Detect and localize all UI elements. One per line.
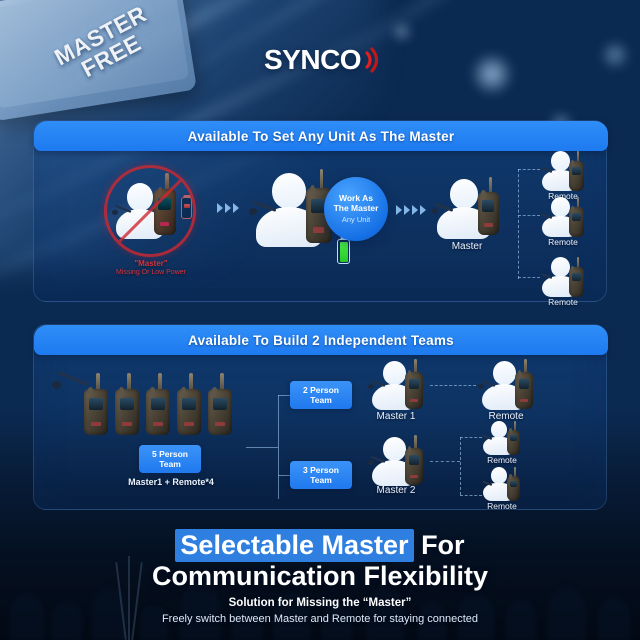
team-a-link-line	[430, 385, 476, 386]
callout-line-2: The Master	[334, 204, 379, 214]
walkie-talkie-unit	[146, 373, 170, 435]
section-2-banner-text: Available To Build 2 Independent Teams	[188, 333, 454, 348]
footer-headline-highlight: Selectable Master	[175, 529, 413, 562]
section-1-banner: Available To Set Any Unit As The Master	[34, 121, 608, 151]
walkie-talkie-unit	[177, 373, 201, 435]
three-person-team-chip[interactable]: 3 Person Team	[290, 461, 352, 489]
five-person-team-composition: Master1 + Remote*4	[110, 477, 232, 487]
team-b-trunk-line	[460, 437, 461, 495]
walkie-talkie-remote	[569, 197, 584, 237]
warning-label-sub: Missing Or Low Power	[76, 269, 226, 276]
walkie-talkie-unit	[208, 373, 232, 435]
footer-headline-line-1: Selectable Master For	[0, 530, 640, 560]
section-2-banner: Available To Build 2 Independent Teams	[34, 325, 608, 355]
split-line-trunk	[278, 395, 279, 499]
three-person-team-line2: Team	[310, 475, 332, 485]
split-line-in	[246, 447, 278, 448]
team-b-link-in	[430, 461, 460, 462]
infographic-stage: MASTER FREE SYNCO Available To Set Any U…	[0, 0, 640, 640]
team-b-remote-label: Remote	[480, 455, 524, 465]
brand-logo: SYNCO	[264, 44, 380, 76]
footer-headline-line-2: Communication Flexibility	[0, 561, 640, 591]
prohibition-icon	[104, 165, 196, 257]
sound-wave-icon	[364, 47, 380, 73]
battery-full-icon	[337, 239, 350, 264]
two-person-team-line1: 2 Person	[303, 385, 339, 395]
five-person-team-line1: 5 Person	[152, 449, 188, 459]
section-1-banner-text: Available To Set Any Unit As The Master	[188, 129, 455, 144]
two-person-team-chip[interactable]: 2 Person Team	[290, 381, 352, 409]
callout-line-3: Any Unit	[342, 215, 370, 224]
mic-capsule-icon	[432, 208, 438, 214]
walkie-talkie-master-1	[405, 359, 423, 409]
tree-branch-line	[518, 277, 540, 278]
walkie-talkie-master-2	[405, 435, 423, 485]
section-panel-teams: Available To Build 2 Independent Teams	[33, 324, 607, 510]
work-as-master-callout: Work As The Master Any Unit	[324, 177, 388, 241]
three-person-team-line1: 3 Person	[303, 465, 339, 475]
walkie-talkie-remote	[569, 151, 584, 191]
team-b-remote-label: Remote	[480, 501, 524, 511]
footer-subtitle-line-2: Freely switch between Master and Remote …	[0, 613, 640, 625]
tree-branch-line	[518, 169, 540, 170]
walkie-talkie-master	[478, 177, 499, 235]
master-label: Master	[432, 241, 502, 252]
warning-label-title: "Master"	[86, 259, 216, 268]
mic-capsule-icon	[52, 381, 61, 389]
mic-capsule-icon	[249, 208, 257, 215]
walkie-talkie-remote	[569, 257, 584, 297]
brand-logo-text: SYNCO	[264, 44, 361, 76]
section-panel-master: Available To Set Any Unit As The Master	[33, 120, 607, 302]
master-2-label: Master 2	[366, 485, 426, 496]
walkie-talkie-unit	[115, 373, 139, 435]
flow-arrows-1	[217, 203, 239, 213]
team-b-branch-line	[460, 495, 482, 496]
two-person-team-line2: Team	[310, 395, 332, 405]
footer-subtitle-line-1: Solution for Missing the “Master”	[0, 597, 640, 609]
remote-label: Remote	[540, 237, 586, 247]
walkie-talkie-team-a-remote	[515, 359, 533, 409]
footer-headline-tail: For	[421, 530, 465, 560]
master-1-label: Master 1	[366, 411, 426, 422]
tree-branch-line	[518, 215, 540, 216]
remote-label: Remote	[540, 297, 586, 307]
team-b-branch-line	[460, 437, 482, 438]
walkie-talkie-team-b-remote	[507, 421, 520, 455]
tree-trunk-line	[518, 169, 519, 279]
walkie-talkie-team-b-remote	[507, 467, 520, 501]
flow-arrows-2	[396, 205, 426, 215]
five-person-team-line2: Team	[159, 459, 181, 469]
five-person-team-chip[interactable]: 5 Person Team	[139, 445, 201, 473]
